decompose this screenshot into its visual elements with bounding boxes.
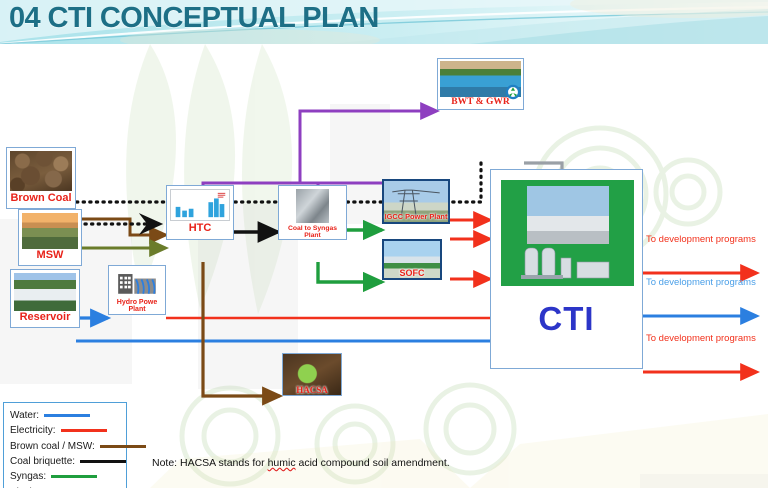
output-label-2: To development programs [646,277,756,288]
legend-item: Water: [10,408,120,423]
note-suffix: acid compound soil amendment. [296,457,450,469]
node-igcc-power-plant[interactable]: IGCC Power Plant [382,179,450,224]
hydro-plant-icon [111,268,163,298]
node-sofc[interactable]: SOFC [382,239,442,280]
node-hydro-power-plant[interactable]: Hydro Powe Plant [108,265,166,315]
legend-label: Syngas: [10,471,46,482]
node-brown-coal-label: Brown Coal [10,193,72,205]
cti-green-panel [501,180,634,286]
legend-swatch-brown-coal-msw [100,445,146,448]
legend-item: Electricity: [10,423,120,438]
brown-coal-photo [10,151,72,191]
legend-box: Water: Electricity: Brown coal / MSW: Co… [3,402,127,488]
note-squiggled-word: humic [268,457,296,469]
node-htc-label: HTC [170,223,230,235]
legend-label: Coal briquette: [10,456,75,467]
reservoir-photo [14,273,76,311]
legend-label: Brown coal / MSW: [10,441,95,452]
node-sofc-label: SOFC [384,268,440,278]
legend-item: Black water: [10,484,120,488]
slide-root: 04 CTI CONCEPTUAL PLAN [0,0,768,488]
note-text: Note: HACSA stands for humic acid compou… [152,457,450,469]
water-treatment-photo [440,61,521,97]
legend-label: Electricity: [10,425,56,436]
node-msw-label: MSW [22,250,78,262]
node-reservoir[interactable]: Reservoir [10,269,80,328]
node-cti[interactable]: CTI [490,169,643,369]
cti-tanks-photo [501,244,634,284]
node-coal-to-syngas-plant-label: Coal to Syngas Plant [282,225,343,239]
msw-photo [22,213,78,249]
node-msw[interactable]: MSW [18,209,82,266]
node-coal-to-syngas-plant[interactable]: Coal to Syngas Plant [278,185,347,240]
output-label-3: To development programs [646,333,756,344]
node-hacsa-label: HACSA [283,385,341,395]
note-prefix: Note: HACSA stands for [152,457,268,469]
legend-swatch-water [44,414,90,417]
node-htc[interactable]: HTC [166,185,234,240]
node-igcc-power-plant-label: IGCC Power Plant [384,212,448,221]
syngas-plant-photo [282,189,343,223]
legend-swatch-syngas [51,475,97,478]
node-hydro-power-plant-label: Hydro Powe Plant [111,299,163,314]
node-brown-coal[interactable]: Brown Coal [6,147,76,209]
htc-chart-icon [170,189,230,221]
page-title: 04 CTI CONCEPTUAL PLAN [9,2,379,35]
node-cti-label: CTI [491,300,642,338]
legend-label: Water: [10,410,39,421]
legend-item: Syngas: [10,469,120,484]
legend-swatch-electricity [61,429,107,432]
diagram-canvas: Brown Coal MSW Reservoir [0,44,768,488]
legend-swatch-coal-briquette [80,460,126,463]
node-hacsa[interactable]: HACSA [282,353,342,396]
slide-header-banner: 04 CTI CONCEPTUAL PLAN [0,0,768,44]
node-bwt-gwr[interactable]: BWT & GWR [437,58,524,110]
output-label-1: To development programs [646,234,756,245]
cti-plant-photo [527,186,609,244]
node-reservoir-label: Reservoir [14,312,76,324]
recycle-badge-icon [505,84,521,100]
legend-item: Coal briquette: [10,454,120,469]
legend-item: Brown coal / MSW: [10,439,120,454]
